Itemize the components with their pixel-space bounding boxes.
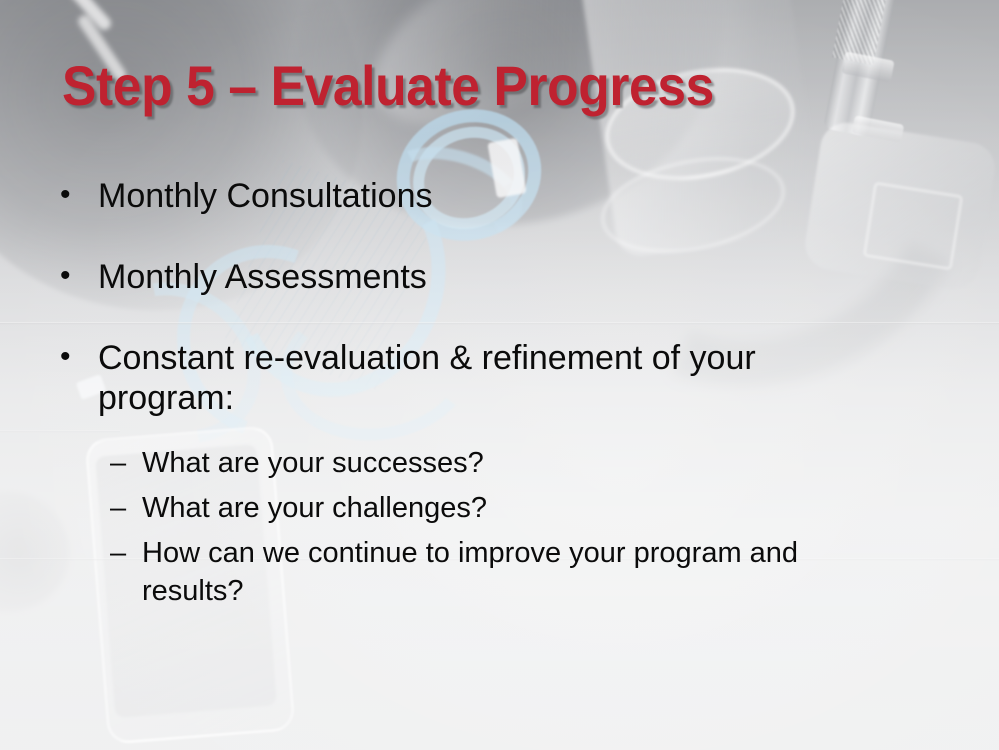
sub-bullet-list: – What are your successes? – What are yo…: [110, 445, 952, 609]
slide-body-bullet-list: • Monthly Consultations • Monthly Assess…: [52, 176, 952, 618]
slide-title: Step 5 – Evaluate Progress: [62, 58, 714, 114]
sub-bullet-marker: –: [110, 490, 142, 527]
sub-bullet-text: How can we continue to improve your prog…: [142, 535, 902, 609]
bullet-marker: •: [52, 257, 98, 295]
sub-bullet-item: – What are your challenges?: [110, 490, 952, 527]
bullet-item: • Monthly Assessments: [52, 257, 952, 298]
slide-content: Step 5 – Evaluate Progress • Monthly Con…: [0, 0, 999, 750]
bullet-text: Monthly Consultations: [98, 176, 898, 217]
bullet-text: Constant re-evaluation & refinement of y…: [98, 338, 898, 420]
bullet-text: Monthly Assessments: [98, 257, 898, 298]
sub-bullet-marker: –: [110, 445, 142, 482]
presentation-slide: Step 5 – Evaluate Progress • Monthly Con…: [0, 0, 999, 750]
sub-bullet-item: – How can we continue to improve your pr…: [110, 535, 952, 609]
bullet-item: • Monthly Consultations: [52, 176, 952, 217]
sub-bullet-text: What are your challenges?: [142, 490, 902, 527]
sub-bullet-marker: –: [110, 535, 142, 572]
bullet-marker: •: [52, 176, 98, 214]
bullet-item: • Constant re-evaluation & refinement of…: [52, 338, 952, 420]
sub-bullet-item: – What are your successes?: [110, 445, 952, 482]
bullet-marker: •: [52, 338, 98, 376]
sub-bullet-text: What are your successes?: [142, 445, 902, 482]
